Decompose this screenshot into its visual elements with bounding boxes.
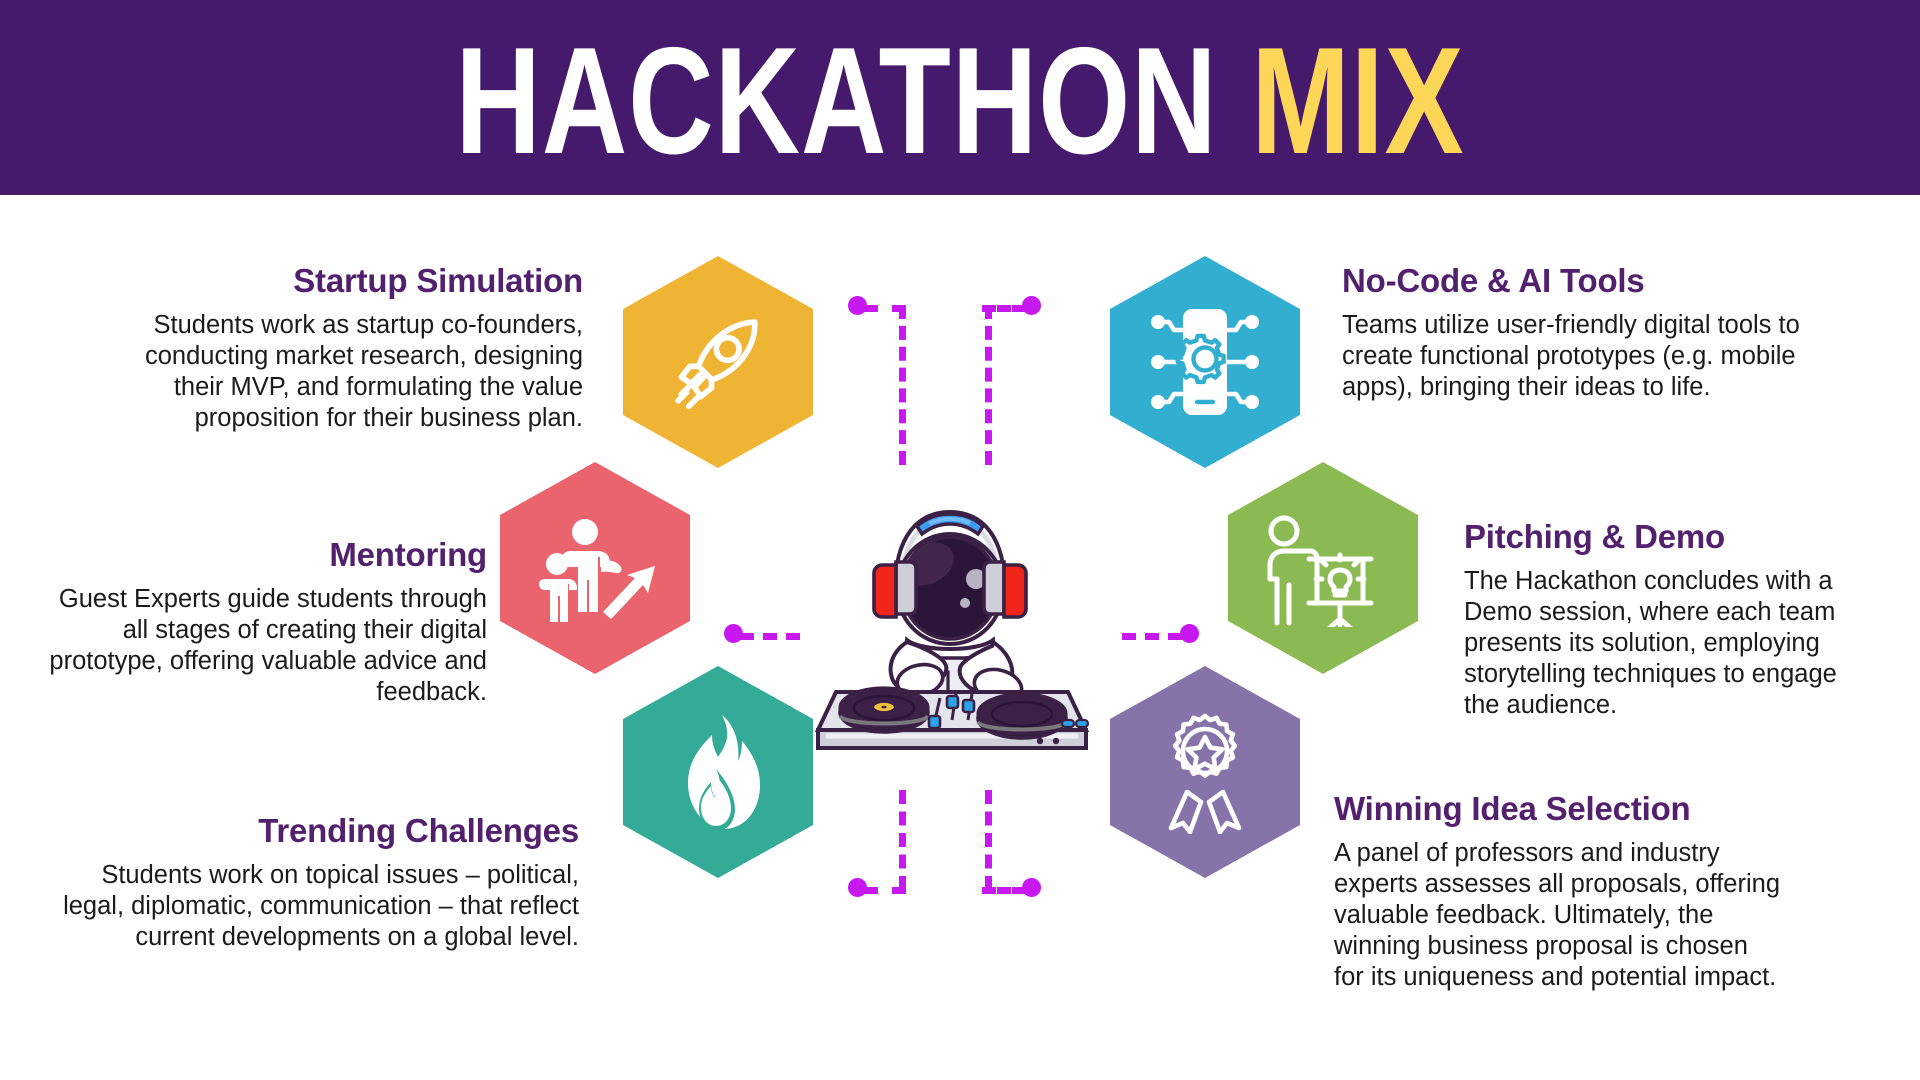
section-pitching-demo: Pitching & Demo The Hackathon concludes … — [1464, 518, 1864, 722]
presenter-lightbulb-board-icon — [1259, 509, 1387, 627]
award-ribbon-icon — [1149, 710, 1261, 834]
section-body-winning-idea-selection: A panel of professors and industry exper… — [1334, 838, 1784, 994]
connector-dash-vertical — [985, 790, 992, 890]
section-winning-idea-selection: Winning Idea Selection A panel of profes… — [1334, 790, 1784, 994]
hexagon-no-code-ai-tools[interactable] — [1110, 256, 1300, 468]
section-title-mentoring: Mentoring — [42, 536, 487, 574]
astronaut-dj-illustration — [800, 480, 1100, 770]
section-body-startup-simulation: Students work as startup co-founders, co… — [98, 310, 583, 434]
section-startup-simulation: Startup Simulation Students work as star… — [98, 262, 583, 434]
mentor-growth-arrow-icon — [535, 512, 655, 624]
connector-dash-vertical — [899, 305, 906, 465]
page-title-part2: MIX — [1251, 16, 1464, 186]
infographic-canvas: HACKATHON MIX Startup Simulation Student… — [0, 0, 1920, 1080]
flame-icon — [668, 713, 768, 831]
section-title-pitching-demo: Pitching & Demo — [1464, 518, 1864, 556]
page-title: HACKATHON MIX — [455, 25, 1464, 177]
connector-dash-horizontal — [1122, 633, 1182, 640]
header-banner: HACKATHON MIX — [0, 0, 1920, 195]
hexagon-pitching-demo[interactable] — [1228, 462, 1418, 674]
page-title-part1: HACKATHON — [455, 16, 1217, 186]
hexagon-trending-challenges[interactable] — [623, 666, 813, 878]
hexagon-winning-idea-selection[interactable] — [1110, 666, 1300, 878]
connector-dash-vertical — [899, 790, 906, 890]
rocket-icon — [664, 308, 772, 416]
connector-dash-vertical — [985, 305, 992, 465]
section-body-trending-challenges: Students work on topical issues – politi… — [42, 860, 579, 953]
hexagon-mentoring[interactable] — [500, 462, 690, 674]
section-title-trending-challenges: Trending Challenges — [42, 812, 579, 850]
section-title-startup-simulation: Startup Simulation — [98, 262, 583, 300]
section-mentoring: Mentoring Guest Experts guide students t… — [42, 536, 487, 708]
section-no-code-ai-tools: No-Code & AI Tools Teams utilize user-fr… — [1342, 262, 1842, 403]
section-body-mentoring: Guest Experts guide students through all… — [42, 584, 487, 708]
section-trending-challenges: Trending Challenges Students work on top… — [42, 812, 579, 953]
section-title-winning-idea-selection: Winning Idea Selection — [1334, 790, 1784, 828]
hexagon-startup-simulation[interactable] — [623, 256, 813, 468]
section-body-pitching-demo: The Hackathon concludes with a Demo sess… — [1464, 566, 1864, 722]
section-title-no-code-ai-tools: No-Code & AI Tools — [1342, 262, 1842, 300]
section-body-no-code-ai-tools: Teams utilize user-friendly digital tool… — [1342, 310, 1842, 403]
connector-endpoint-dot — [1180, 624, 1199, 643]
connector-dash-horizontal — [740, 633, 800, 640]
astronaut-dj-turntable-icon — [800, 480, 1100, 770]
mobile-gear-circuit-icon — [1141, 303, 1269, 421]
